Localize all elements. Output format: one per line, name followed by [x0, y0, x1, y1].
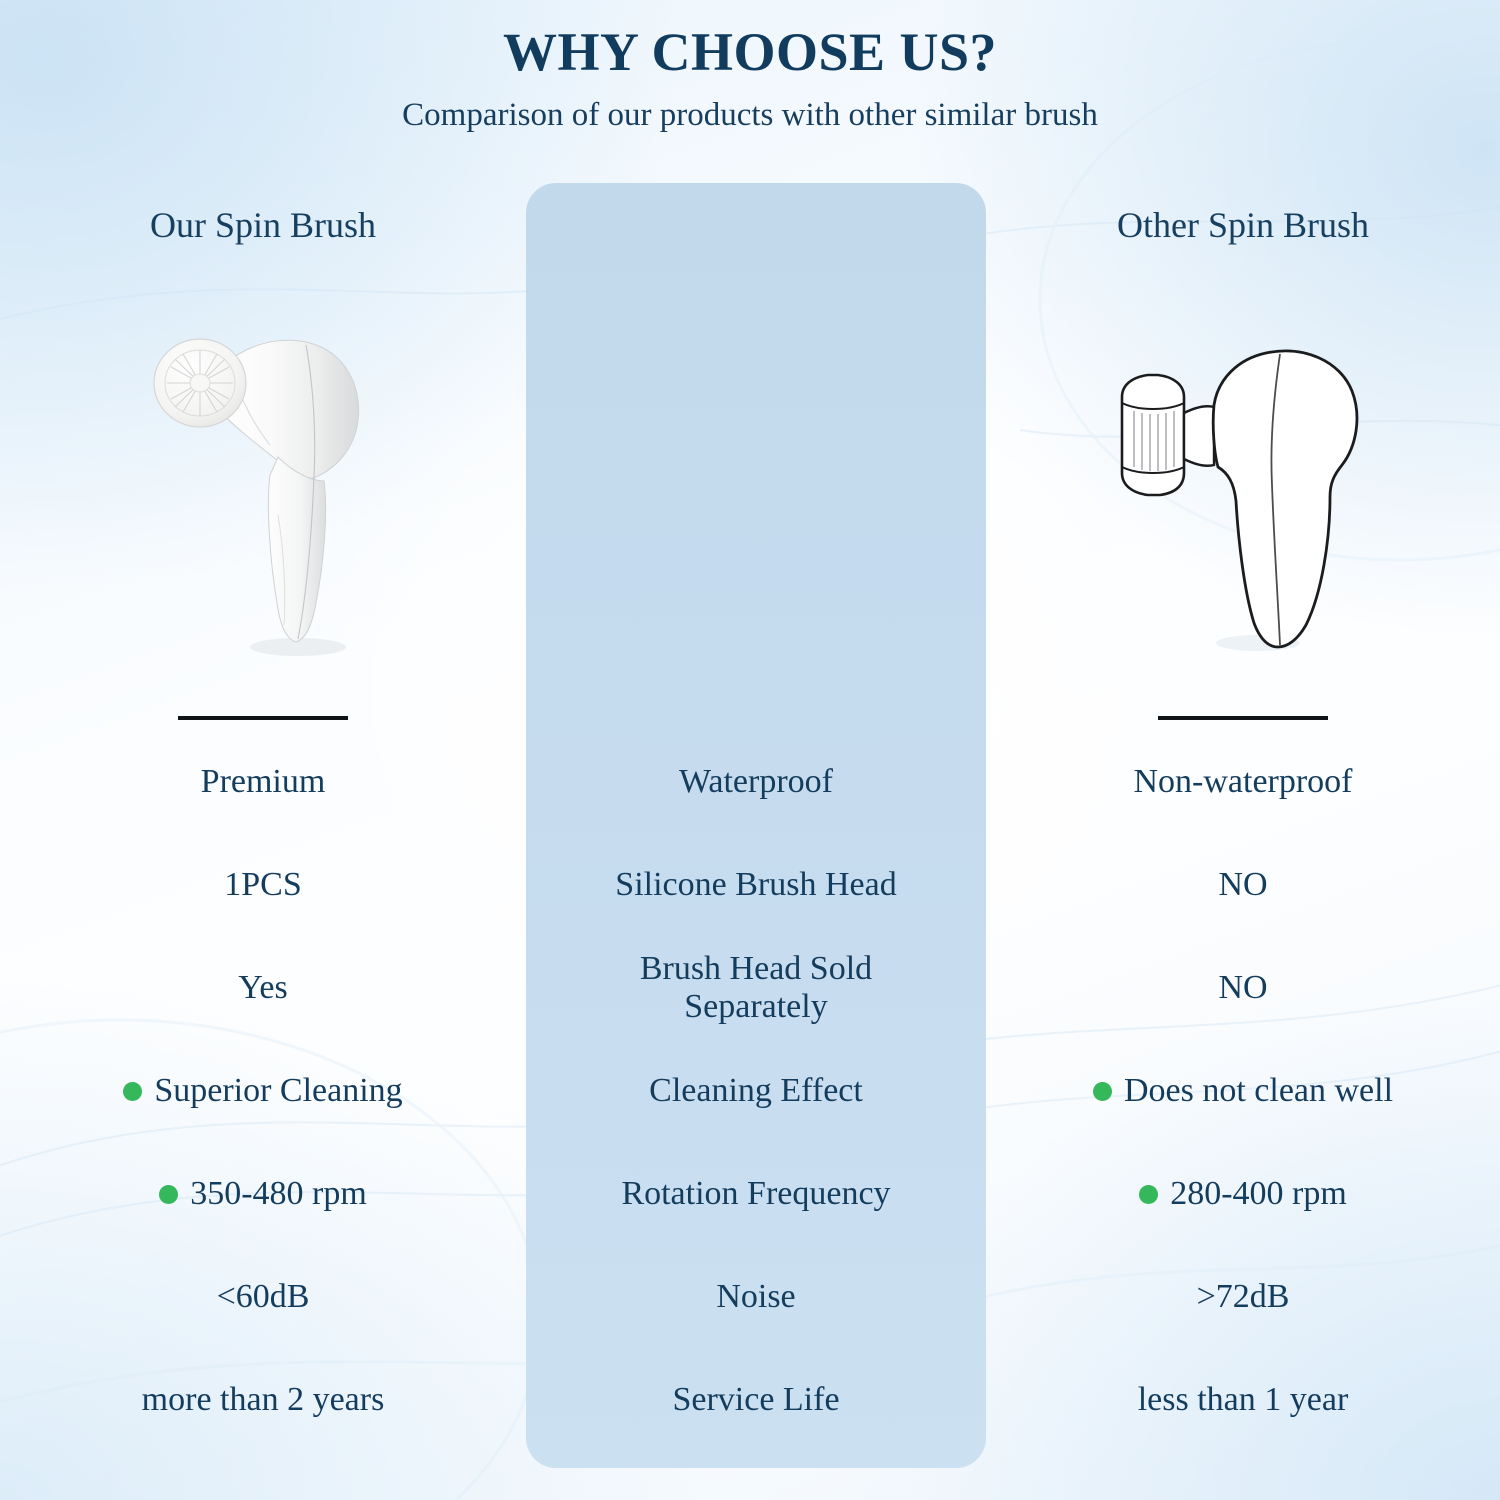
value-row-left-6: more than 2 years	[0, 1370, 526, 1430]
value-right-3: Does not clean well	[1124, 1073, 1393, 1109]
green-bullet-icon	[1139, 1185, 1158, 1204]
comparison-grid: Our Spin Brush	[0, 0, 1500, 1500]
page-subtitle: Comparison of our products with other si…	[0, 97, 1500, 133]
column-heading-right: Other Spin Brush	[986, 206, 1500, 246]
feature-label-2: Brush Head Sold Separately	[640, 950, 872, 1026]
value-row-right-6: less than 1 year	[986, 1370, 1500, 1430]
feature-label-6: Service Life	[672, 1382, 839, 1418]
value-row-left-0: Premium	[0, 752, 526, 812]
feature-label-2-line2: Separately	[684, 988, 828, 1025]
column-other-spin-brush: Other Spin Brush	[986, 0, 1500, 1500]
value-left-4: 350-480 rpm	[190, 1176, 367, 1212]
other-spin-brush-image	[986, 300, 1500, 690]
feature-label-2-line1: Brush Head Sold	[640, 950, 872, 987]
feature-row-2: Brush Head Sold Separately	[526, 958, 986, 1018]
value-row-left-2: Yes	[0, 958, 526, 1018]
our-spin-brush-image	[0, 300, 526, 690]
center-feature-rows: Waterproof Silicone Brush Head Brush Hea…	[526, 752, 986, 1452]
divider-right	[1158, 716, 1328, 720]
left-value-rows: Premium 1PCS Yes Superior Cleaning 350-4…	[0, 752, 526, 1452]
value-right-1: NO	[1218, 867, 1267, 903]
value-right-0: Non-waterproof	[1133, 764, 1352, 800]
column-feature-labels: Waterproof Silicone Brush Head Brush Hea…	[526, 0, 986, 1500]
page-title: WHY CHOOSE US?	[0, 24, 1500, 81]
value-right-5: >72dB	[1197, 1279, 1290, 1315]
feature-label-4: Rotation Frequency	[621, 1176, 890, 1212]
green-bullet-icon	[159, 1185, 178, 1204]
value-left-3: Superior Cleaning	[154, 1073, 402, 1109]
feature-label-0: Waterproof	[679, 764, 833, 800]
value-left-2: Yes	[238, 970, 287, 1006]
value-left-6: more than 2 years	[142, 1382, 385, 1418]
header: WHY CHOOSE US? Comparison of our product…	[0, 24, 1500, 133]
value-row-left-1: 1PCS	[0, 855, 526, 915]
value-right-2: NO	[1218, 970, 1267, 1006]
value-left-0: Premium	[201, 764, 326, 800]
value-row-left-5: <60dB	[0, 1267, 526, 1327]
feature-row-6: Service Life	[526, 1370, 986, 1430]
value-row-left-3: Superior Cleaning	[0, 1061, 526, 1121]
feature-row-3: Cleaning Effect	[526, 1061, 986, 1121]
value-row-right-1: NO	[986, 855, 1500, 915]
value-right-4: 280-400 rpm	[1170, 1176, 1347, 1212]
value-row-right-5: >72dB	[986, 1267, 1500, 1327]
value-row-left-4: 350-480 rpm	[0, 1164, 526, 1224]
divider-left	[178, 716, 348, 720]
green-bullet-icon	[1093, 1082, 1112, 1101]
feature-row-5: Noise	[526, 1267, 986, 1327]
right-value-rows: Non-waterproof NO NO Does not clean well…	[986, 752, 1500, 1452]
value-left-5: <60dB	[217, 1279, 310, 1315]
value-row-right-3: Does not clean well	[986, 1061, 1500, 1121]
value-row-right-4: 280-400 rpm	[986, 1164, 1500, 1224]
feature-label-1: Silicone Brush Head	[615, 867, 896, 903]
feature-label-3: Cleaning Effect	[649, 1073, 863, 1109]
green-bullet-icon	[123, 1082, 142, 1101]
value-right-6: less than 1 year	[1138, 1382, 1349, 1418]
feature-row-1: Silicone Brush Head	[526, 855, 986, 915]
value-row-right-2: NO	[986, 958, 1500, 1018]
value-row-right-0: Non-waterproof	[986, 752, 1500, 812]
feature-row-0: Waterproof	[526, 752, 986, 812]
feature-row-4: Rotation Frequency	[526, 1164, 986, 1224]
feature-label-5: Noise	[716, 1279, 795, 1315]
column-our-spin-brush: Our Spin Brush	[0, 0, 526, 1500]
value-left-1: 1PCS	[224, 867, 302, 903]
column-heading-left: Our Spin Brush	[0, 206, 526, 246]
